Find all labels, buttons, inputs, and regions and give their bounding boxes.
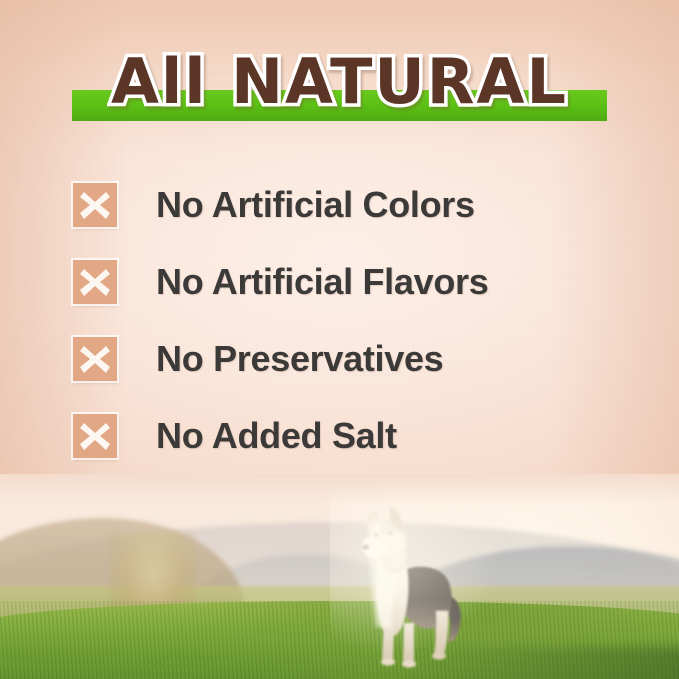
foreground-grass (0, 601, 679, 679)
all-natural-poster: All NATURAL No Artificial Colors No Arti… (0, 0, 679, 679)
claim-label: No Artificial Colors (156, 176, 475, 234)
list-item: No Artificial Flavors (73, 253, 613, 330)
x-mark-icon (73, 337, 117, 381)
claim-label: No Added Salt (156, 407, 397, 465)
photo-top-fade (0, 474, 679, 504)
claims-list: No Artificial Colors No Artificial Flavo… (73, 176, 613, 484)
list-item: No Artificial Colors (73, 176, 613, 253)
dog-illustration (348, 503, 498, 671)
list-item: No Preservatives (73, 330, 613, 407)
landscape-photo (0, 474, 679, 679)
x-mark-icon (73, 414, 117, 458)
claim-label: No Preservatives (156, 330, 443, 388)
claim-label: No Artificial Flavors (156, 253, 488, 311)
page-title: All NATURAL (0, 52, 679, 112)
x-mark-icon (73, 183, 117, 227)
list-item: No Added Salt (73, 407, 613, 484)
x-mark-icon (73, 260, 117, 304)
